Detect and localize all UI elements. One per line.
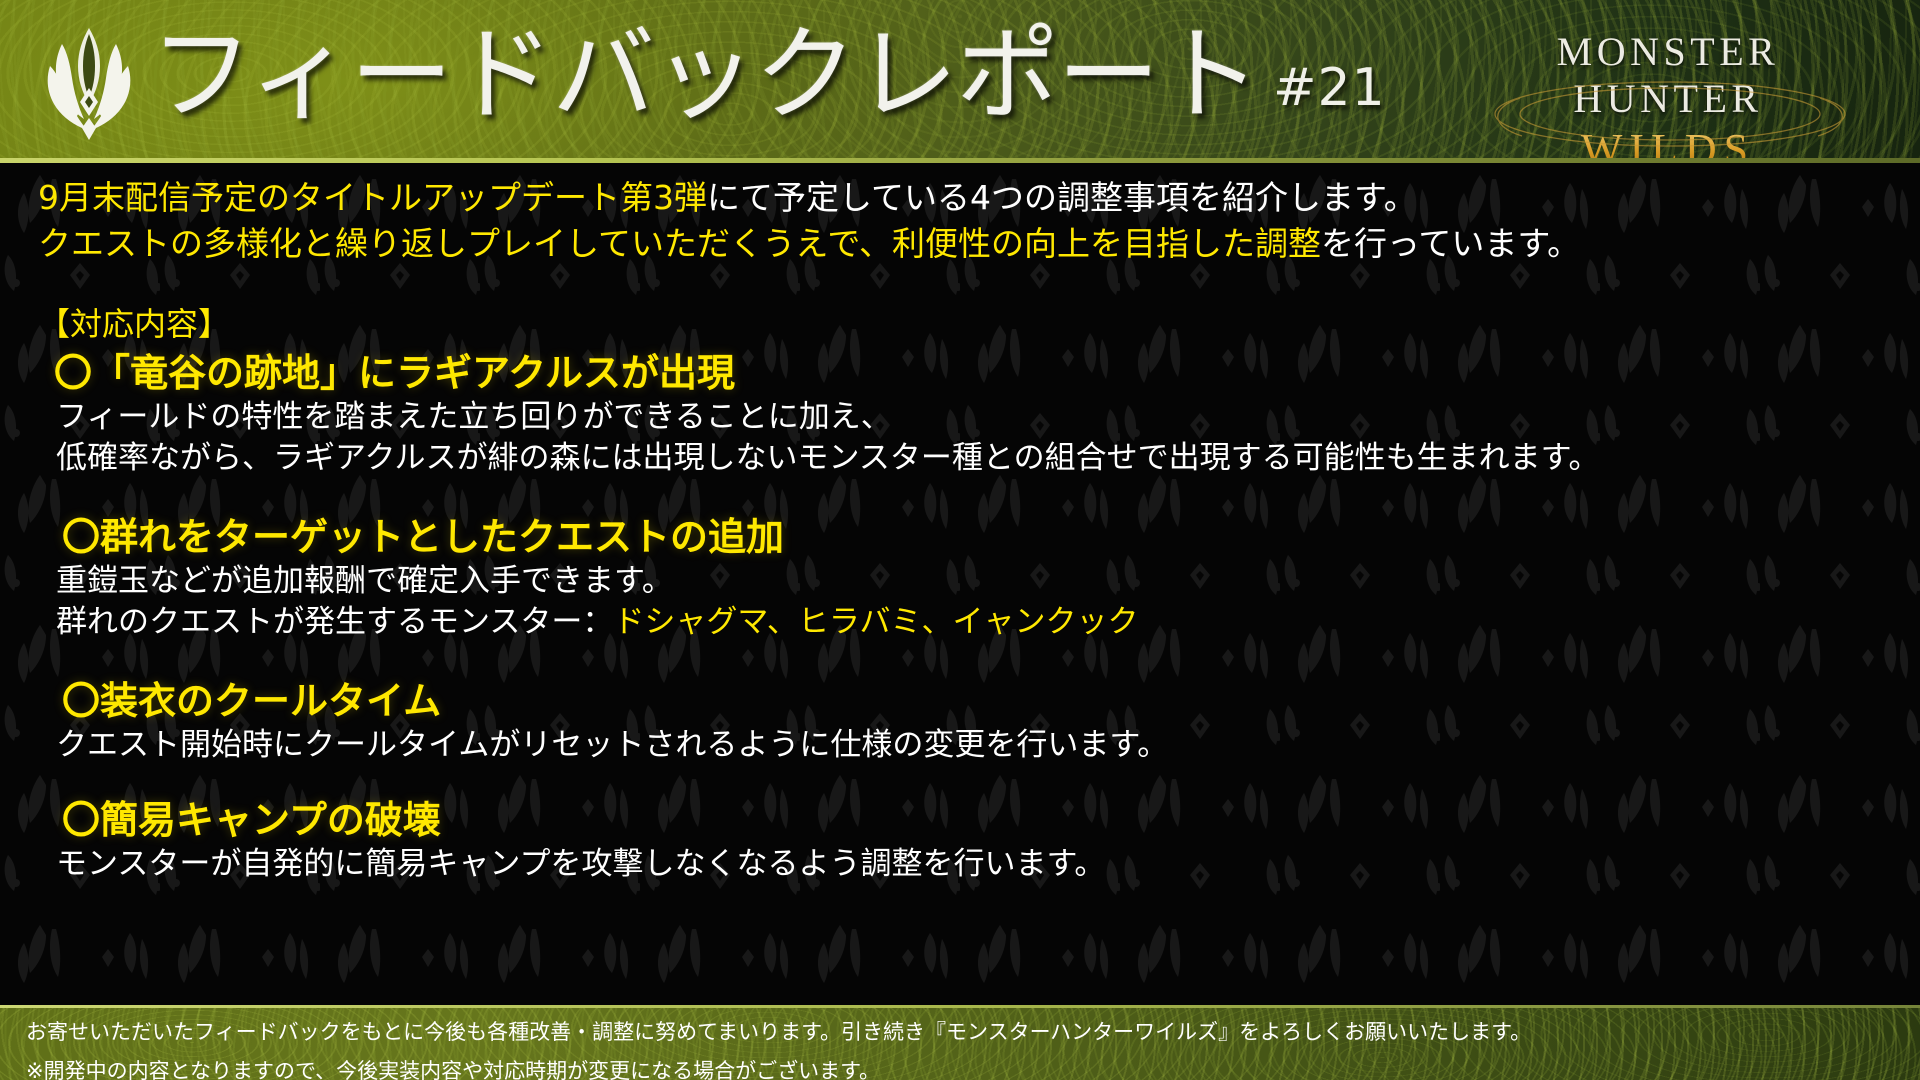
logo-arc-flourish-icon [1480,78,1860,154]
footer-line-2: ※開発中の内容となりますので、今後実装内容や対応時期が変更になる場合がございます… [26,1055,1920,1080]
intro-line-2-rest: を行っています。 [1321,224,1580,263]
section-4-line-1: モンスターが自発的に簡易キャンプを攻撃しなくなるよう調整を行います。 [38,849,1882,880]
header-banner: フィードバックレポート #21 MONSTER HUNTER WILDS [0,0,1920,163]
footer-banner: お寄せいただいたフィードバックをもとに今後も各種改善・調整に努めてまいります。引… [0,1005,1920,1080]
section-3-line-1: クエスト開始時にクールタイムがリセットされるように仕様の変更を行います。 [38,730,1882,761]
header-title-group: フィードバックレポート #21 [150,8,1386,144]
section-1-line-1: フィールドの特性を踏まえた立ち回りができることに加え、 [38,402,1882,433]
feedback-report-slide: フィードバックレポート #21 MONSTER HUNTER WILDS [0,0,1920,1080]
intro-line-1-highlight: 9月末配信予定のタイトルアップデート第3弾 [38,178,707,217]
report-body: 9月末配信予定のタイトルアップデート第3弾にて予定している4つの調整事項を紹介し… [0,163,1920,880]
intro-line-2-highlight: クエストの多様化と繰り返しプレイしていただくうえで、利便性の向上を目指した調整 [38,224,1321,263]
section-heading-4: 〇簡易キャンプの破壊 [38,801,1882,839]
section-heading-1: 〇「竜谷の跡地」にラギアクルスが出現 [38,354,1882,392]
section-label: 【対応内容】 [38,308,1882,340]
section-1-line-2: 低確率ながら、ラギアクルスが緋の森には出現しないモンスター種との組合せで出現する… [38,443,1882,474]
section-2-monster-names: ドシャグマ、ヒラバミ、イャンクック [613,604,1138,640]
content-area: 9月末配信予定のタイトルアップデート第3弾にて予定している4つの調整事項を紹介し… [0,163,1920,1005]
footer-line-1: お寄せいただいたフィードバックをもとに今後も各種改善・調整に努めてまいります。引… [26,1016,1920,1046]
section-heading-3: 〇装衣のクールタイム [38,682,1882,720]
intro-line-2: クエストの多様化と繰り返しプレイしていただくうえで、利便性の向上を目指した調整を… [38,227,1882,260]
intro-line-1-rest: にて予定している4つの調整事項を紹介します。 [707,178,1417,217]
intro-line-1: 9月末配信予定のタイトルアップデート第3弾にて予定している4つの調整事項を紹介し… [38,181,1882,214]
footer-text-group: お寄せいただいたフィードバックをもとに今後も各種改善・調整に努めてまいります。引… [0,1016,1920,1080]
section-2-monster-line: 群れのクエストが発生するモンスター：ドシャグマ、ヒラバミ、イャンクック [38,607,1882,638]
section-2-line-1: 重鎧玉などが追加報酬で確定入手できます。 [38,566,1882,597]
section-heading-2: 〇群れをターゲットとしたクエストの追加 [38,518,1882,556]
page-title: フィードバックレポート [150,8,1259,144]
section-2-monster-prefix: 群れのクエストが発生するモンスター： [56,604,613,640]
issue-number: #21 [1273,58,1386,118]
monster-hunter-crest-icon [30,18,148,144]
footer-divider [0,1005,1920,1008]
